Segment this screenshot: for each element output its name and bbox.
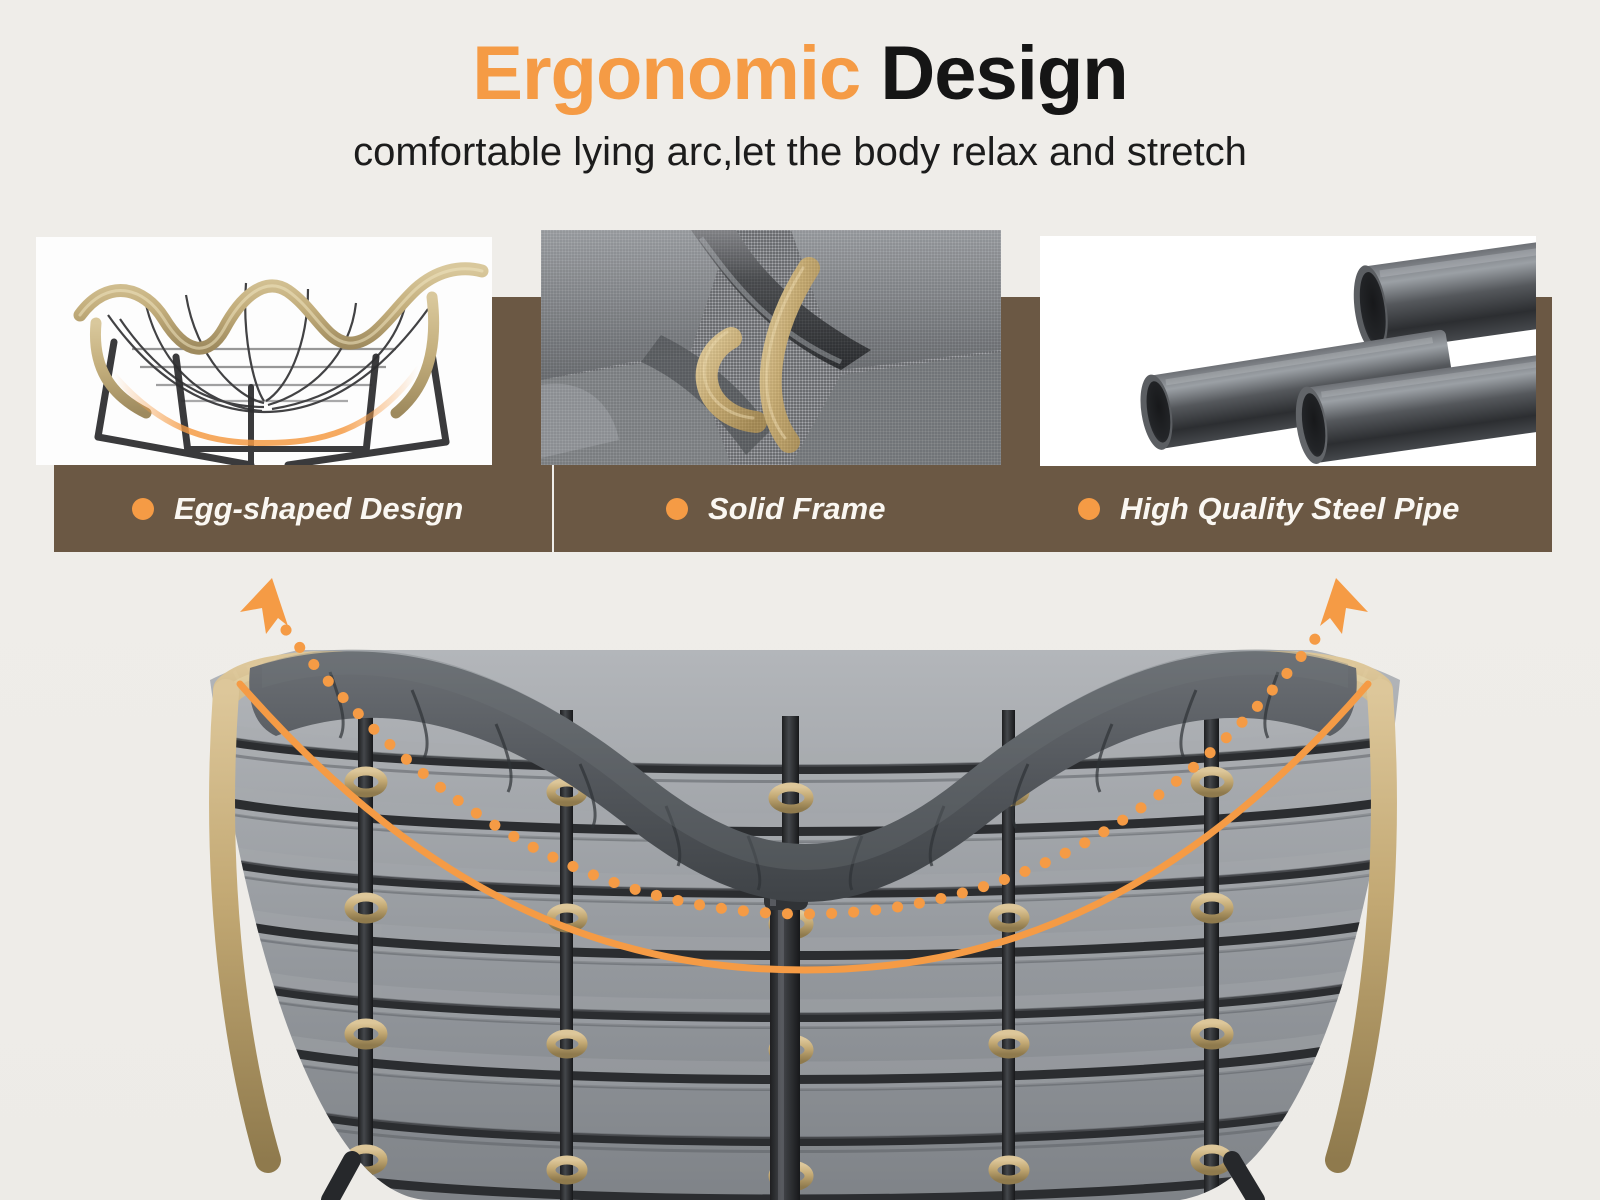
feature-caption-high-quality-steel-pipe: High Quality Steel Pipe bbox=[1078, 465, 1459, 552]
bullet-dot-icon bbox=[666, 498, 688, 520]
feature-label-text: High Quality Steel Pipe bbox=[1120, 491, 1459, 527]
feature-card-solid-frame: Solid Frame bbox=[540, 230, 1056, 552]
feature-caption-solid-frame: Solid Frame bbox=[666, 465, 885, 552]
feature-label-text: Solid Frame bbox=[708, 491, 885, 527]
hero-product-image bbox=[0, 560, 1600, 1200]
egg-chair-rear-illustration bbox=[0, 560, 1600, 1200]
feature-caption-egg-shaped-design: Egg-shaped Design bbox=[132, 465, 463, 552]
bullet-dot-icon bbox=[1078, 498, 1100, 520]
steel-pipes-illustration bbox=[1040, 236, 1536, 466]
egg-frame-illustration bbox=[36, 237, 492, 465]
bullet-dot-icon bbox=[132, 498, 154, 520]
feature-card-high-quality-steel-pipe: High Quality Steel Pipe bbox=[1040, 236, 1552, 552]
feature-label-text: Egg-shaped Design bbox=[174, 491, 463, 527]
feature-photo-solid-frame bbox=[541, 230, 1001, 465]
feature-card-egg-shaped-design: Egg-shaped Design bbox=[36, 237, 552, 552]
feature-photo-high-quality-steel-pipe bbox=[1040, 236, 1536, 466]
feature-photo-egg-shaped-design bbox=[36, 237, 492, 465]
